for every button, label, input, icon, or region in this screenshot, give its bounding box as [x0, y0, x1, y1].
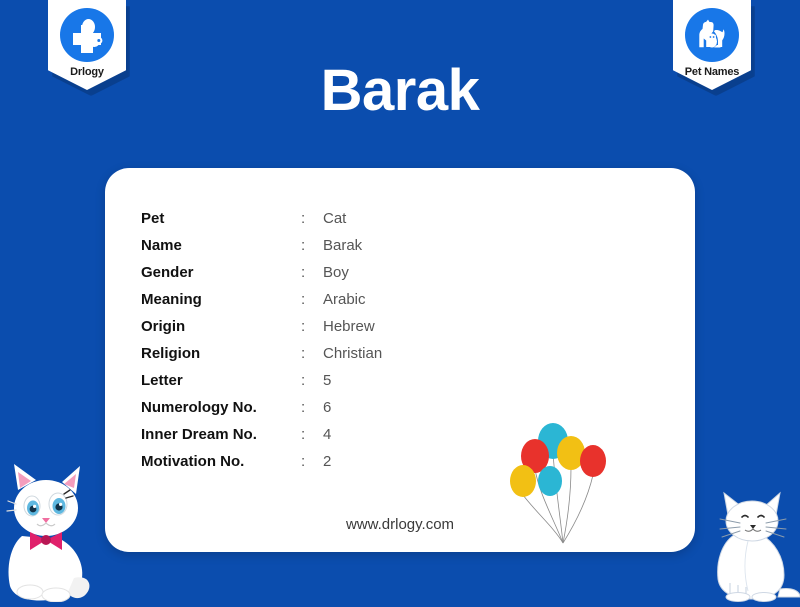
row-value: 6: [323, 399, 331, 416]
row-label: Name: [141, 237, 301, 254]
drlogy-medical-cross-stethoscope-icon: [59, 7, 115, 63]
row-label: Letter: [141, 372, 301, 389]
row-value: Barak: [323, 237, 362, 254]
table-row: Motivation No. : 2: [141, 453, 382, 480]
row-separator: :: [301, 237, 323, 254]
table-row: Inner Dream No. : 4: [141, 426, 382, 453]
row-separator: :: [301, 318, 323, 335]
row-label: Religion: [141, 345, 301, 362]
row-label: Meaning: [141, 291, 301, 308]
row-separator: :: [301, 291, 323, 308]
table-row: Pet : Cat: [141, 210, 382, 237]
row-label: Origin: [141, 318, 301, 335]
dog-and-cat-icon: [684, 7, 740, 63]
row-label: Motivation No.: [141, 453, 301, 470]
table-row: Origin : Hebrew: [141, 318, 382, 345]
row-value: 2: [323, 453, 331, 470]
row-separator: :: [301, 345, 323, 362]
row-separator: :: [301, 210, 323, 227]
row-separator: :: [301, 264, 323, 281]
row-value: 5: [323, 372, 331, 389]
white-sitting-cat-line-art-illustration: [700, 487, 800, 602]
page-title: Barak: [0, 62, 800, 120]
table-row: Name : Barak: [141, 237, 382, 264]
row-value: Boy: [323, 264, 349, 281]
card-footer-url: www.drlogy.com: [105, 516, 695, 533]
table-row: Gender : Boy: [141, 264, 382, 291]
row-separator: :: [301, 399, 323, 416]
row-separator: :: [301, 426, 323, 443]
row-value: 4: [323, 426, 331, 443]
info-card: Pet : Cat Name : Barak Gender : Boy Mean…: [105, 168, 695, 552]
table-row: Meaning : Arabic: [141, 291, 382, 318]
cartoon-white-cat-with-bow-illustration: [0, 452, 96, 602]
table-row: Numerology No. : 6: [141, 399, 382, 426]
row-label: Inner Dream No.: [141, 426, 301, 443]
row-separator: :: [301, 372, 323, 389]
row-label: Gender: [141, 264, 301, 281]
row-label: Numerology No.: [141, 399, 301, 416]
row-label: Pet: [141, 210, 301, 227]
info-table: Pet : Cat Name : Barak Gender : Boy Mean…: [141, 210, 382, 480]
row-value: Christian: [323, 345, 382, 362]
row-value: Hebrew: [323, 318, 375, 335]
row-value: Arabic: [323, 291, 366, 308]
table-row: Letter : 5: [141, 372, 382, 399]
row-value: Cat: [323, 210, 346, 227]
table-row: Religion : Christian: [141, 345, 382, 372]
row-separator: :: [301, 453, 323, 470]
